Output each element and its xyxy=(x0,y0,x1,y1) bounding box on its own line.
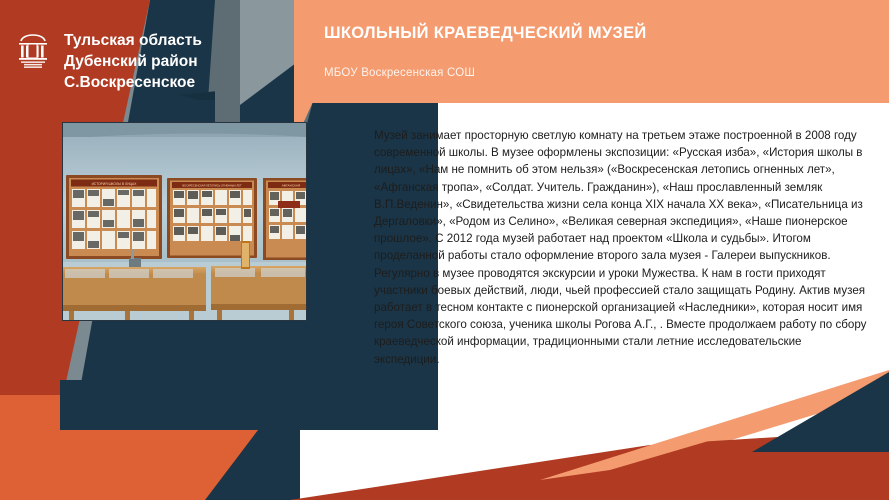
svg-text:ИСТОРИЯ ШКОЛЫ В ЛИЦАХ: ИСТОРИЯ ШКОЛЫ В ЛИЦАХ xyxy=(92,182,138,186)
location-line-2: Дубенский район xyxy=(64,51,294,72)
location-title: Тульская область Дубенский район С.Воскр… xyxy=(64,30,294,93)
svg-text:АФГАНСКАЯ: АФГАНСКАЯ xyxy=(282,184,300,188)
exhibit-board-3: АФГАНСКАЯ xyxy=(263,178,307,260)
description-text: Музей занимает просторную светлую комнат… xyxy=(374,127,868,368)
svg-text:ВОСКРЕСЕНСКАЯ ЛЕТОПИСЬ ОГНЕННЫ: ВОСКРЕСЕНСКАЯ ЛЕТОПИСЬ ОГНЕННЫХ ЛЕТ xyxy=(182,184,242,188)
location-line-3: С.Воскресенское xyxy=(64,72,294,93)
exhibit-board-1: ИСТОРИЯ ШКОЛЫ В ЛИЦАХ xyxy=(66,175,162,259)
page-title: ШКОЛЬНЫЙ КРАЕВЕДЧЕСКИЙ МУЗЕЙ xyxy=(324,24,647,43)
header-band xyxy=(294,0,889,103)
page-subtitle: МБОУ Воскресенская СОШ xyxy=(324,67,475,79)
museum-logo xyxy=(17,29,49,69)
slide-root: Тульская область Дубенский район С.Воскр… xyxy=(0,0,889,500)
museum-photo: ИСТОРИЯ ШКОЛЫ В ЛИЦАХ xyxy=(62,122,307,321)
location-line-1: Тульская область xyxy=(64,30,294,51)
